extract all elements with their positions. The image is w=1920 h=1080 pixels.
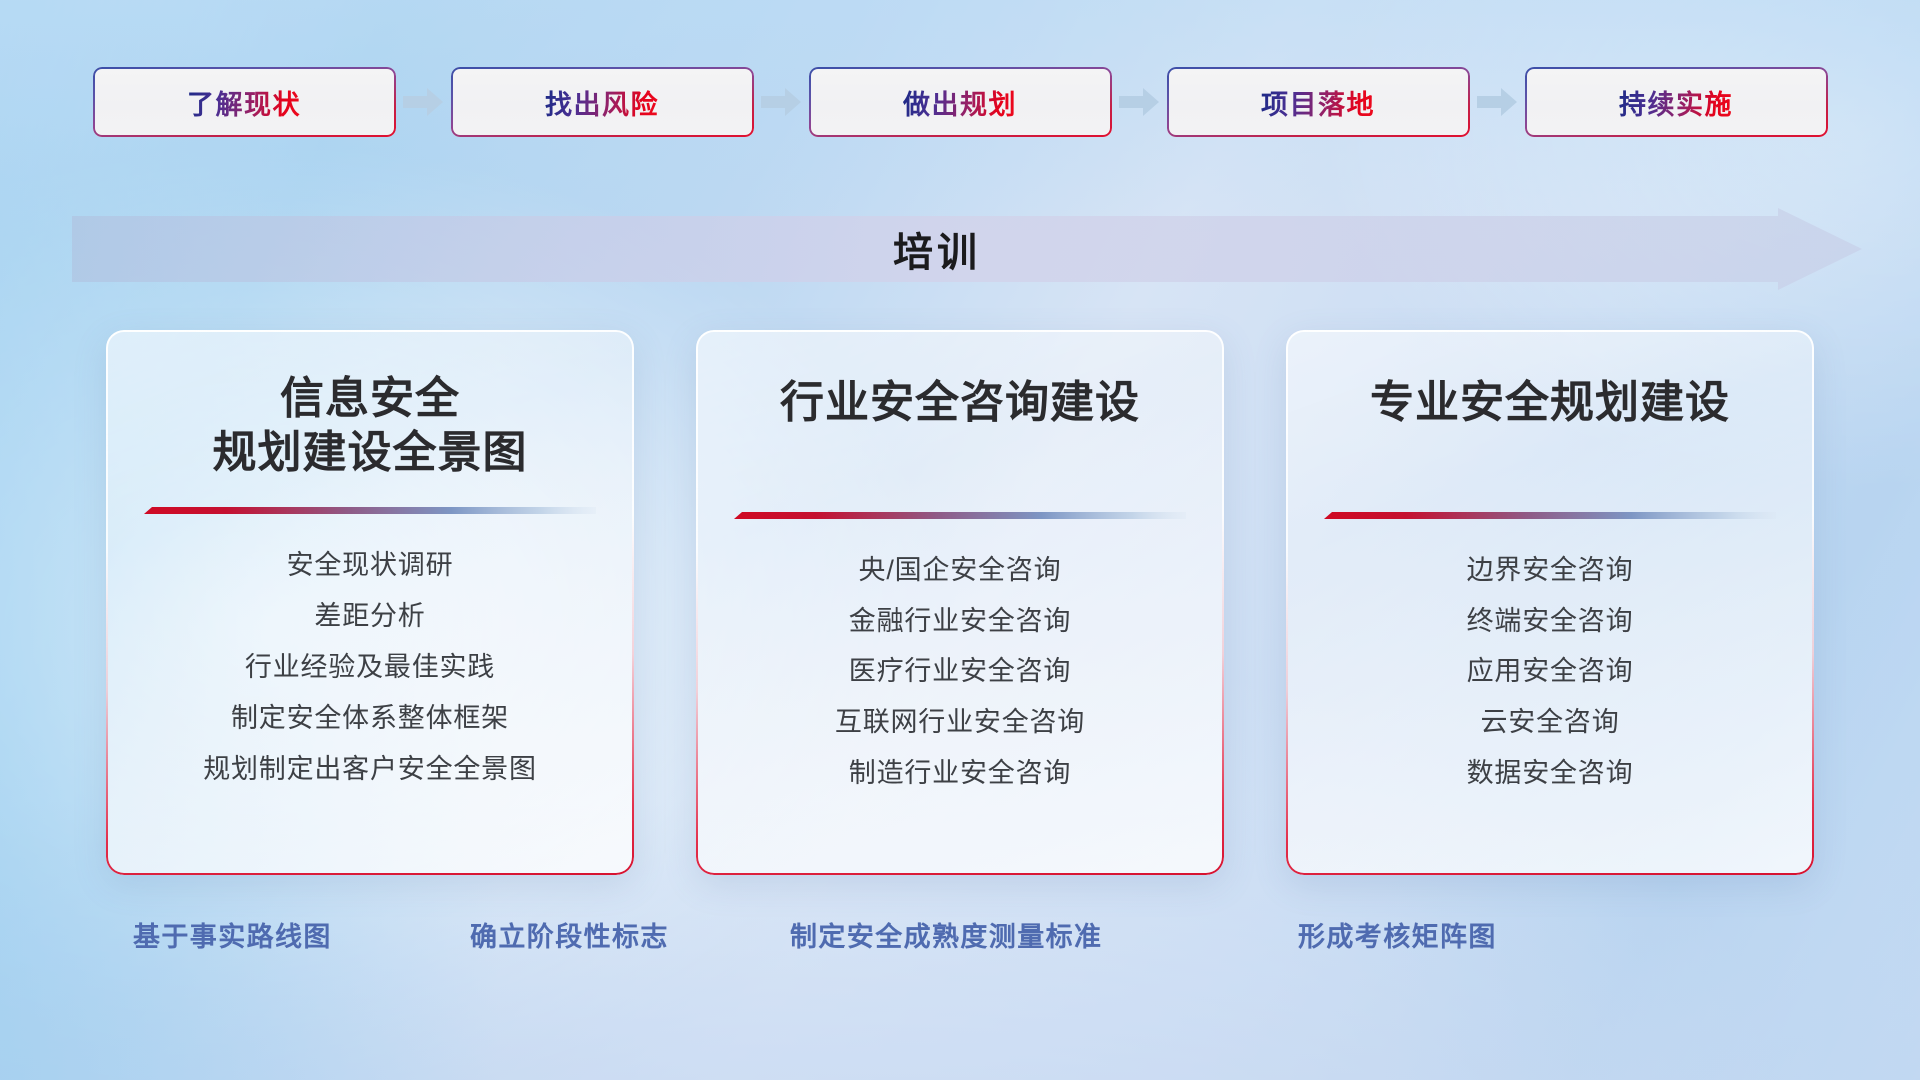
process-step-flow: 了解现状 找出风险 做出规划 项目落地 持续实施	[0, 62, 1920, 142]
card-information-security-blueprint[interactable]: 信息安全 规划建设全景图 安全现状调研 差	[106, 330, 634, 875]
list-item: 互联网行业安全咨询	[835, 702, 1085, 744]
footer-label-3: 制定安全成熟度测量标准	[790, 915, 1102, 954]
banner-label: 培训	[72, 208, 1862, 290]
list-item: 规划制定出客户安全全景图	[203, 749, 537, 791]
card-title-line: 信息安全	[213, 372, 528, 426]
card-title: 信息安全 规划建设全景图	[213, 372, 528, 479]
footer-label-2: 确立阶段性标志	[470, 915, 669, 954]
card-title: 行业安全咨询建设	[780, 376, 1140, 430]
step-arrow-4	[1470, 87, 1525, 117]
step-arrow-2	[754, 87, 809, 117]
card-industry-security-consulting[interactable]: 行业安全咨询建设 央/国企安全咨询 金融行业安全咨询	[696, 330, 1224, 875]
card-divider	[144, 505, 596, 517]
card-divider	[734, 510, 1186, 522]
step-box-2[interactable]: 找出风险	[451, 67, 754, 137]
card-professional-security-planning[interactable]: 专业安全规划建设 边界安全咨询 终端安全咨询	[1286, 330, 1814, 875]
step-label-1: 了解现状	[187, 83, 301, 122]
list-item: 云安全咨询	[1481, 702, 1620, 744]
step-label-2: 找出风险	[545, 83, 659, 122]
step-label-4: 项目落地	[1261, 83, 1375, 122]
step-box-3[interactable]: 做出规划	[809, 67, 1112, 137]
card-title: 专业安全规划建设	[1370, 376, 1730, 430]
list-item: 差距分析	[314, 596, 425, 638]
card-item-list: 央/国企安全咨询 金融行业安全咨询 医疗行业安全咨询 互联网行业安全咨询 制造行…	[835, 550, 1085, 795]
list-item: 制定安全体系整体框架	[231, 698, 509, 740]
step-box-1[interactable]: 了解现状	[93, 67, 396, 137]
list-item: 边界安全咨询	[1467, 550, 1634, 592]
list-item: 行业经验及最佳实践	[245, 647, 495, 689]
card-group: 信息安全 规划建设全景图 安全现状调研 差	[0, 330, 1920, 885]
list-item: 应用安全咨询	[1467, 651, 1634, 693]
list-item: 医疗行业安全咨询	[849, 651, 1071, 693]
step-label-3: 做出规划	[903, 83, 1017, 122]
step-box-4[interactable]: 项目落地	[1167, 67, 1470, 137]
list-item: 金融行业安全咨询	[849, 601, 1071, 643]
step-label-5: 持续实施	[1619, 83, 1733, 122]
footer-label-row: 基于事实路线图 确立阶段性标志 制定安全成熟度测量标准 形成考核矩阵图	[0, 915, 1920, 975]
footer-label-4: 形成考核矩阵图	[1298, 915, 1497, 954]
card-item-list: 边界安全咨询 终端安全咨询 应用安全咨询 云安全咨询 数据安全咨询	[1467, 550, 1634, 795]
card-item-list: 安全现状调研 差距分析 行业经验及最佳实践 制定安全体系整体框架 规划制定出客户…	[203, 545, 537, 790]
step-arrow-3	[1112, 87, 1167, 117]
card-title-line: 规划建设全景图	[213, 426, 528, 480]
step-box-5[interactable]: 持续实施	[1525, 67, 1828, 137]
list-item: 央/国企安全咨询	[859, 550, 1062, 592]
list-item: 数据安全咨询	[1467, 753, 1634, 795]
card-divider	[1324, 510, 1776, 522]
list-item: 终端安全咨询	[1467, 601, 1634, 643]
training-banner: 培训	[72, 208, 1862, 290]
card-title-line: 行业安全咨询建设	[780, 376, 1140, 430]
list-item: 安全现状调研	[287, 545, 454, 587]
footer-label-1: 基于事实路线图	[133, 915, 332, 954]
step-arrow-1	[396, 87, 451, 117]
list-item: 制造行业安全咨询	[849, 753, 1071, 795]
card-title-line: 专业安全规划建设	[1370, 376, 1730, 430]
